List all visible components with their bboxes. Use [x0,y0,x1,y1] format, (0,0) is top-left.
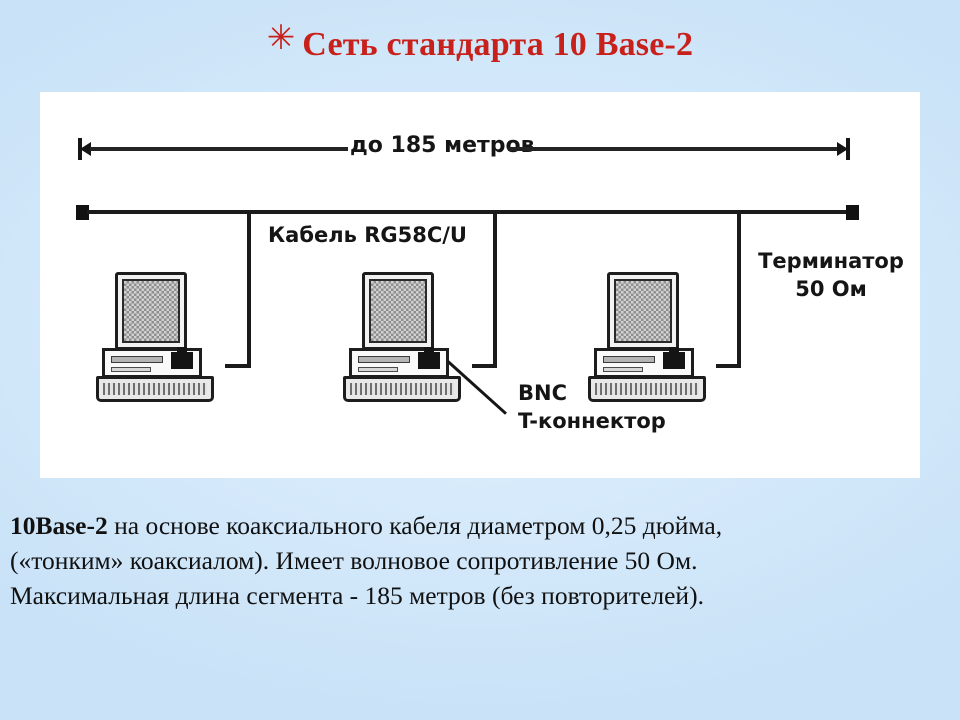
workstation-3 [588,272,708,412]
monitor-2-icon [362,272,434,350]
page-title: ✳Сеть стандарта 10 Base-2 [0,22,960,64]
workstation-2 [343,272,463,412]
bus-drop-2 [493,210,497,368]
terminator-label-line2: 50 Ом [752,278,910,302]
drive-slot-2 [358,356,410,363]
bnc-t-connector-1-icon [171,352,193,369]
keyboard-2-icon [343,376,461,402]
bus-drop-3 [737,210,741,368]
slide-canvas: ✳Сеть стандарта 10 Base-2 до 185 метров … [0,0,960,720]
monitor-3-screen [614,279,672,343]
keyboard-2-keys [350,383,454,395]
system-unit-1-icon [102,348,202,378]
terminator-label-line1: Терминатор [752,250,910,274]
keyboard-1-icon [96,376,214,402]
body-line3: Максимальная длина сегмента - 185 метров… [10,581,704,610]
dimension-label: до 185 метров [350,134,535,159]
system-unit-2-icon [349,348,449,378]
drive-slot-3b [603,367,643,372]
body-paragraph: 10Base-2 на основе коаксиального кабеля … [10,508,954,613]
dimension-tick-right [846,138,850,160]
bus-segment-1 [87,210,251,214]
dimension-bar-right [508,147,838,151]
bus-segment-3 [493,210,741,214]
bus-tap-2 [472,364,497,368]
bnc-t-connector-2-icon [418,352,440,369]
bnc-label-line2: T-коннектор [518,410,666,434]
monitor-3-icon [607,272,679,350]
bus-segment-4 [737,210,853,214]
keyboard-1-keys [103,383,207,395]
bus-segment-2 [247,210,497,214]
terminator-right [846,205,859,220]
page-title-text: Сеть стандарта 10 Base-2 [302,26,693,64]
workstation-1 [96,272,216,412]
bus-tap-3 [716,364,741,368]
dimension-bar-left [90,147,348,151]
monitor-1-screen [122,279,180,343]
drive-slot-1 [111,356,163,363]
bus-tap-1 [225,364,249,368]
body-line2: («тонким» коаксиалом). Имеет волновое со… [10,546,697,575]
bus-drop-1 [247,210,251,368]
keyboard-3-keys [595,383,699,395]
monitor-1-icon [115,272,187,350]
asterisk-bullet-icon: ✳ [267,22,296,56]
body-line1-rest: на основе коаксиального кабеля диаметром… [108,511,722,540]
system-unit-3-icon [594,348,694,378]
body-lead: 10Base-2 [10,511,108,540]
bnc-t-connector-3-icon [663,352,685,369]
bnc-label-line1: BNC [518,382,567,406]
cable-label: Кабель RG58C/U [268,224,467,248]
monitor-2-screen [369,279,427,343]
drive-slot-3 [603,356,655,363]
drive-slot-1b [111,367,151,372]
keyboard-3-icon [588,376,706,402]
diagram-panel: до 185 метров Кабель RG58C/U Терминатор … [40,92,920,478]
drive-slot-2b [358,367,398,372]
